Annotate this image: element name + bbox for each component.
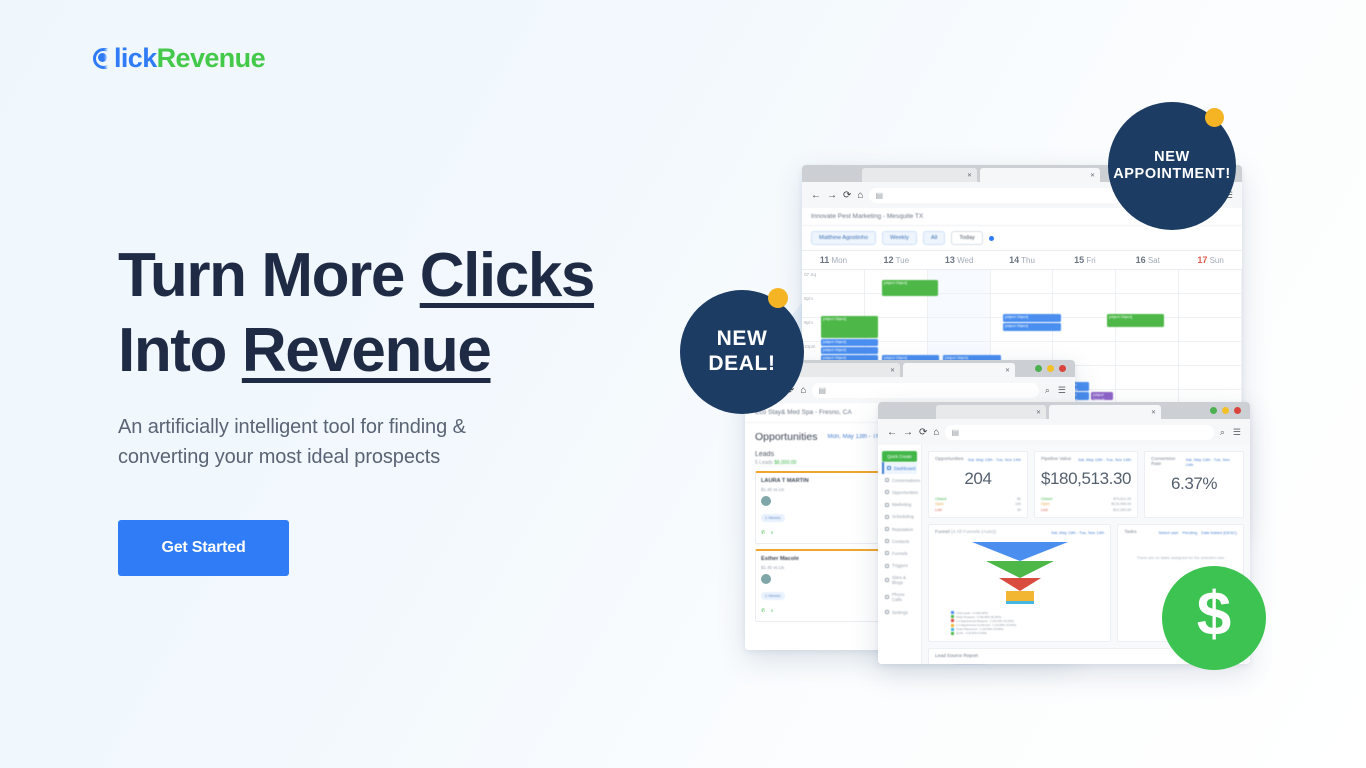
home-icon[interactable]: ⌂ — [800, 385, 806, 396]
dashboard-icon — [887, 466, 891, 470]
reload-icon[interactable]: ⟳ — [919, 427, 927, 438]
back-arrow-icon[interactable]: ← — [887, 427, 897, 438]
chat-icon — [885, 478, 889, 482]
card-meta: $1.45 vs.Us — [761, 565, 784, 570]
calendar-filter-period[interactable]: Weekly — [882, 231, 917, 245]
funnel-legend-item: QUAL - 0 (0.00% 0.00%) — [956, 631, 987, 635]
hero-subheading: An artificially intelligent tool for fin… — [118, 412, 498, 473]
browser-tab-active[interactable]: ✕ — [980, 168, 1100, 182]
window-controls[interactable] — [1210, 407, 1241, 414]
sidebar-item-contacts[interactable]: Contacts — [882, 535, 917, 547]
page-title: Turn More Clicks Into Revenue — [118, 238, 678, 388]
card-meta: $1.45 vs.Us — [761, 487, 784, 492]
sidebar-item-sites[interactable]: Sites & Blogs — [882, 572, 917, 589]
kpi-card-pipeline-value: Pipeline Value Sat, May 13th - Tue, Nov … — [1034, 451, 1138, 518]
kpi-legend-label: Closed — [1041, 497, 1052, 501]
funnel-pane: Funnel (4 All Funnels (Auto)) Sat, May 1… — [928, 524, 1111, 642]
kpi-card-conversion-rate: Conversion Rate Sat, May 13th - Tue, Nov… — [1144, 451, 1244, 518]
kpi-legend-label: Lost — [1041, 508, 1048, 512]
kpi-legend-label: Lost — [935, 508, 942, 512]
calendar-event[interactable]: [object Object] — [882, 280, 938, 296]
sidebar-item-phone-calls[interactable]: Phone Calls — [882, 589, 917, 606]
star-icon — [885, 527, 889, 531]
calendar-event[interactable]: [object Object] — [1003, 314, 1061, 322]
kpi-card-opportunities: Opportunities Sat, May 13th - Tue, Nov 1… — [928, 451, 1028, 518]
sidebar-item-funnels[interactable]: Funnels — [882, 547, 917, 559]
kpi-legend-value: 30 — [1017, 508, 1021, 512]
calendar-day: 16 Sat — [1116, 251, 1179, 269]
badge-line1: NEW — [1154, 149, 1190, 165]
kpi-legend-label: Open — [935, 502, 944, 506]
kpi-legend-value: $74,611.00 — [1113, 497, 1131, 501]
sidebar-item-triggers[interactable]: Triggers — [882, 560, 917, 572]
gear-icon — [885, 610, 889, 614]
window-maximize-light[interactable] — [1222, 407, 1229, 414]
kpi-range[interactable]: Sat, May 13th - Tue, Nov 14th — [1078, 457, 1131, 462]
sidebar-item-scheduling[interactable]: Scheduling — [882, 511, 917, 523]
search-icon[interactable]: ⌕ — [1045, 385, 1050, 396]
browser-tab[interactable]: ✕ — [936, 405, 1046, 419]
new-deal-dot-icon — [768, 288, 788, 308]
opportunities-title: Opportunities — [755, 431, 817, 443]
window-close-light[interactable] — [1234, 407, 1241, 414]
logo-word-revenue: Revenue — [157, 45, 265, 72]
home-icon[interactable]: ⌂ — [933, 427, 939, 438]
calendar-event[interactable]: [object Object] — [821, 339, 878, 346]
browser-tab-active[interactable]: ✕ — [1049, 405, 1161, 419]
funnel-title: Funnel — [935, 530, 950, 535]
tasks-empty-message: There are no tasks assigned for the sele… — [1124, 535, 1237, 560]
kpi-legend-value: 80 — [1017, 497, 1021, 501]
calendar-filter-user[interactable]: Matthew Agostinho — [811, 231, 876, 245]
phone-icon — [885, 595, 889, 599]
hero-illustration: ✕ ✕ ← → ⟳ ⌂ ▤ ⌕ ☰ Innovate Pest Marketin… — [660, 80, 1300, 700]
funnel-range[interactable]: Sat, May 13th - Tue, Nov 14th — [1051, 530, 1104, 535]
funnel-chart — [972, 542, 1068, 606]
sidebar-item-conversations[interactable]: Conversations — [882, 474, 917, 486]
kpi-range[interactable]: Sat, May 13th - Tue, Nov 14th — [968, 457, 1021, 462]
forward-arrow-icon[interactable]: → — [827, 190, 837, 201]
bolt-icon — [885, 564, 889, 568]
browser-tabbar: ✕ ✕ — [878, 402, 1250, 419]
calendar-event[interactable]: [object Object] — [1003, 323, 1061, 331]
headline-line2-plain: Into — [118, 316, 242, 385]
headline-line2-underlined: Revenue — [242, 316, 491, 385]
menu-icon[interactable]: ☰ — [1233, 427, 1241, 438]
calendar-day: 11 Mon — [802, 251, 865, 269]
browser-tab[interactable]: ✕ — [862, 168, 977, 182]
phone-icon[interactable]: ✆ ⌕ — [761, 608, 775, 614]
calendar-day: 14 Thu — [991, 251, 1054, 269]
forward-arrow-icon[interactable]: → — [903, 427, 913, 438]
window-minimize-light[interactable] — [1035, 365, 1042, 372]
headline-line1-underlined: Clicks — [420, 241, 594, 310]
calendar-day: 12 Tue — [865, 251, 928, 269]
window-minimize-light[interactable] — [1210, 407, 1217, 414]
address-bar[interactable]: ▤ — [812, 383, 1038, 398]
funnel-legend: Cold Leads - 6 (100.00%) FAQs Prospect -… — [935, 611, 1104, 636]
money-badge: $ — [1162, 566, 1266, 670]
megaphone-icon — [885, 503, 889, 507]
headline-line1-plain: Turn More — [118, 241, 420, 310]
briefcase-icon — [885, 490, 889, 494]
sidebar-item-marketing[interactable]: Marketing — [882, 499, 917, 511]
kpi-value: 204 — [935, 462, 1021, 495]
calendar-day-header: 11 Mon 12 Tue 13 Wed 14 Thu 15 Fri 16 Sa… — [802, 250, 1242, 270]
card-chip: 1 Weeks — [761, 514, 785, 522]
calendar-day: 17 Sun — [1179, 251, 1242, 269]
sidebar-item-opportunities[interactable]: Opportunities — [882, 486, 917, 498]
dashboard-sidebar: Quick Create Dashboard Conversations Opp… — [878, 445, 922, 664]
brand-logo[interactable]: lick Revenue — [93, 45, 265, 72]
calendar-event[interactable]: [object Object] — [1107, 314, 1164, 327]
avatar — [761, 496, 771, 506]
search-icon[interactable]: ⌕ — [1220, 427, 1225, 438]
badge-line1: NEW — [717, 327, 768, 350]
kpi-legend-value: 146 — [1015, 502, 1021, 506]
calendar-day: 13 Wed — [928, 251, 991, 269]
new-deal-badge: NEWDEAL! — [680, 290, 804, 414]
sidebar-item-reputation[interactable]: Reputation — [882, 523, 917, 535]
address-bar[interactable]: ▤ — [945, 425, 1213, 440]
kpi-legend-value: $12,263.00 — [1113, 508, 1131, 512]
sidebar-item-settings[interactable]: Settings — [882, 606, 917, 618]
avatar — [761, 574, 771, 584]
circle-c-mark-icon — [93, 48, 114, 69]
calendar-event[interactable]: [object Object] — [821, 347, 878, 354]
window-controls[interactable] — [1035, 365, 1066, 372]
kpi-row: Opportunities Sat, May 13th - Tue, Nov 1… — [928, 451, 1244, 518]
calendar-event[interactable]: [object Object] — [1091, 392, 1113, 400]
calendar-icon — [885, 515, 889, 519]
window-close-light[interactable] — [1059, 365, 1066, 372]
funnel-icon — [885, 551, 889, 555]
new-appointment-dot-icon — [1205, 108, 1224, 127]
kpi-legend-label: Closed — [935, 497, 946, 501]
back-arrow-icon[interactable]: ← — [811, 190, 821, 201]
kpi-legend-value: $115,456.00 — [1111, 502, 1131, 506]
calendar-today-button[interactable]: Today — [951, 231, 982, 245]
calendar-filter-all[interactable]: All — [923, 231, 945, 245]
logo-word-click: lick — [114, 45, 157, 72]
calendar-status-dot-icon — [989, 236, 994, 241]
calendar-event[interactable]: [object Object] — [821, 316, 878, 338]
kpi-title: Conversion Rate — [1151, 457, 1186, 467]
hero-section: Turn More Clicks Into Revenue An artific… — [118, 238, 678, 576]
kpi-legend-label: Open — [1041, 502, 1050, 506]
kpi-range[interactable]: Sat, May 13th - Tue, Nov 14th — [1186, 457, 1237, 467]
window-maximize-light[interactable] — [1047, 365, 1054, 372]
browser-tab[interactable]: ✕ — [790, 363, 900, 377]
calendar-day: 15 Fri — [1053, 251, 1116, 269]
home-icon[interactable]: ⌂ — [857, 190, 863, 201]
card-chip: 1 Weeks — [761, 592, 785, 600]
browser-tab-active[interactable]: ✕ — [903, 363, 1015, 377]
kpi-title: Pipeline Value — [1041, 457, 1071, 462]
menu-icon[interactable]: ☰ — [1058, 385, 1066, 396]
badge-line2: APPOINTMENT! — [1113, 166, 1231, 182]
kpi-title: Opportunities — [935, 457, 964, 462]
sidebar-item-dashboard[interactable]: Dashboard — [882, 462, 917, 474]
get-started-button[interactable]: Get Started — [118, 520, 289, 576]
browser-navbar: ← → ⟳ ⌂ ▤ ⌕ ☰ — [878, 419, 1250, 445]
person-icon — [885, 539, 889, 543]
globe-icon — [885, 578, 889, 582]
quick-create-button[interactable]: Quick Create — [882, 451, 917, 462]
badge-line2: DEAL! — [708, 352, 775, 375]
logo-text: lick Revenue — [93, 45, 265, 72]
reload-icon[interactable]: ⟳ — [843, 190, 851, 201]
kpi-value: 6.37% — [1151, 467, 1237, 500]
funnel-subtitle: (4 All Funnels (Auto)) — [951, 530, 996, 535]
phone-icon[interactable]: ✆ ⌕ — [761, 530, 775, 536]
kpi-value: $180,513.30 — [1041, 462, 1131, 495]
